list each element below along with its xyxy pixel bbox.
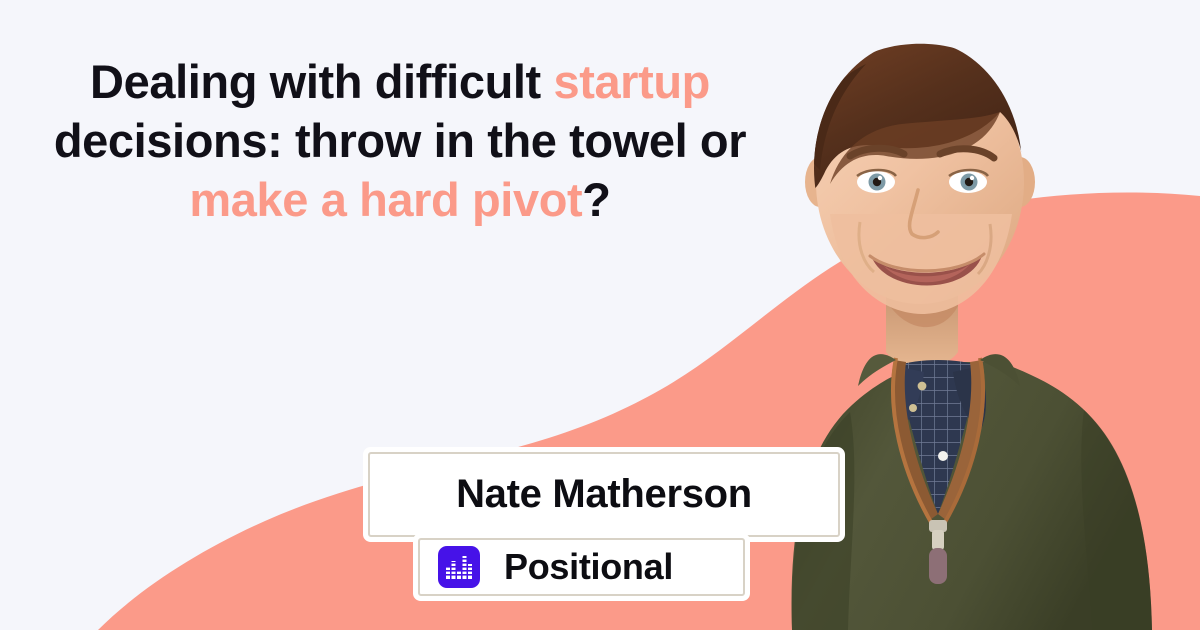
equalizer-bars-icon — [438, 546, 480, 588]
brand-name-text: Positional — [504, 546, 673, 588]
brand-card: Positional — [418, 538, 745, 596]
title-line-1-accent: startup — [553, 55, 710, 108]
title-line-3-accent: make a hard pivot — [189, 173, 582, 226]
guest-name-card: Nate Matherson — [368, 452, 840, 537]
guest-name-text: Nate Matherson — [456, 472, 752, 517]
cover-canvas: Dealing with difficult startup decisions… — [0, 0, 1200, 630]
title-line-3-plain: ? — [582, 173, 610, 226]
title-line-1-plain: Dealing with difficult — [90, 55, 553, 108]
title-line-2: decisions: throw in the towel or — [54, 114, 746, 167]
episode-title: Dealing with difficult startup decisions… — [12, 52, 788, 229]
